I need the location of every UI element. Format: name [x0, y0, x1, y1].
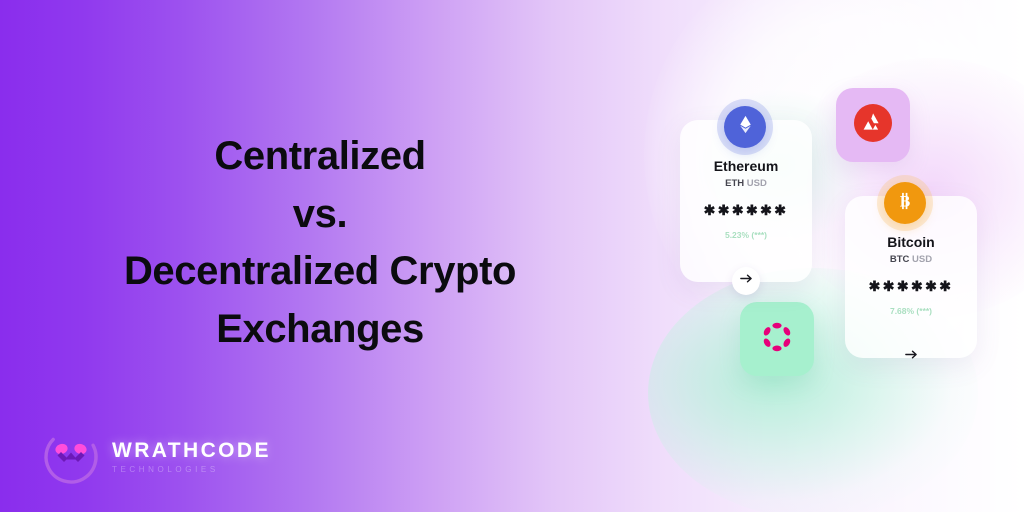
coin-details-button[interactable]: [897, 343, 925, 371]
coin-pair: BTC USD: [845, 254, 977, 265]
coin-change: 5.23% (***): [680, 230, 812, 240]
coin-symbol: BTC: [890, 254, 910, 265]
brand-logo: WRATHCODE TECHNOLOGIES: [42, 428, 271, 486]
brand-text-block: WRATHCODE TECHNOLOGIES: [112, 440, 271, 474]
coin-fiat-currency: USD: [912, 254, 932, 265]
brand-tagline: TECHNOLOGIES: [112, 465, 271, 474]
coin-badge-bitcoin: B: [884, 182, 926, 224]
coin-pair: ETH USD: [680, 178, 812, 189]
arrow-right-icon: [738, 270, 755, 292]
coin-details-button[interactable]: [732, 267, 760, 295]
promo-banner: Centralized vs. Decentralized Crypto Exc…: [0, 0, 1024, 512]
ethereum-icon: [735, 114, 756, 140]
arrow-right-icon: [903, 346, 920, 368]
icon-tile-polkadot[interactable]: [740, 302, 814, 376]
page-title: Centralized vs. Decentralized Crypto Exc…: [40, 128, 600, 358]
coin-badge-ethereum: [724, 106, 766, 148]
svg-text:B: B: [900, 193, 910, 210]
coin-price-masked: ✱✱✱✱✱✱: [845, 278, 977, 295]
coin-fiat-currency: USD: [747, 178, 767, 189]
coin-symbol: ETH: [725, 178, 744, 189]
icon-tile-avalanche[interactable]: [836, 88, 910, 162]
avalanche-icon: [853, 103, 893, 148]
coin-change: 7.68% (***): [845, 306, 977, 316]
polkadot-icon: [760, 320, 794, 359]
coin-price-masked: ✱✱✱✱✱✱: [680, 202, 812, 219]
coin-name: Bitcoin: [845, 234, 977, 250]
coin-name: Ethereum: [680, 158, 812, 174]
bitcoin-icon: B: [893, 189, 917, 218]
brand-name: WRATHCODE: [112, 440, 271, 462]
crossed-hammers-in-circle-icon: [42, 428, 100, 486]
